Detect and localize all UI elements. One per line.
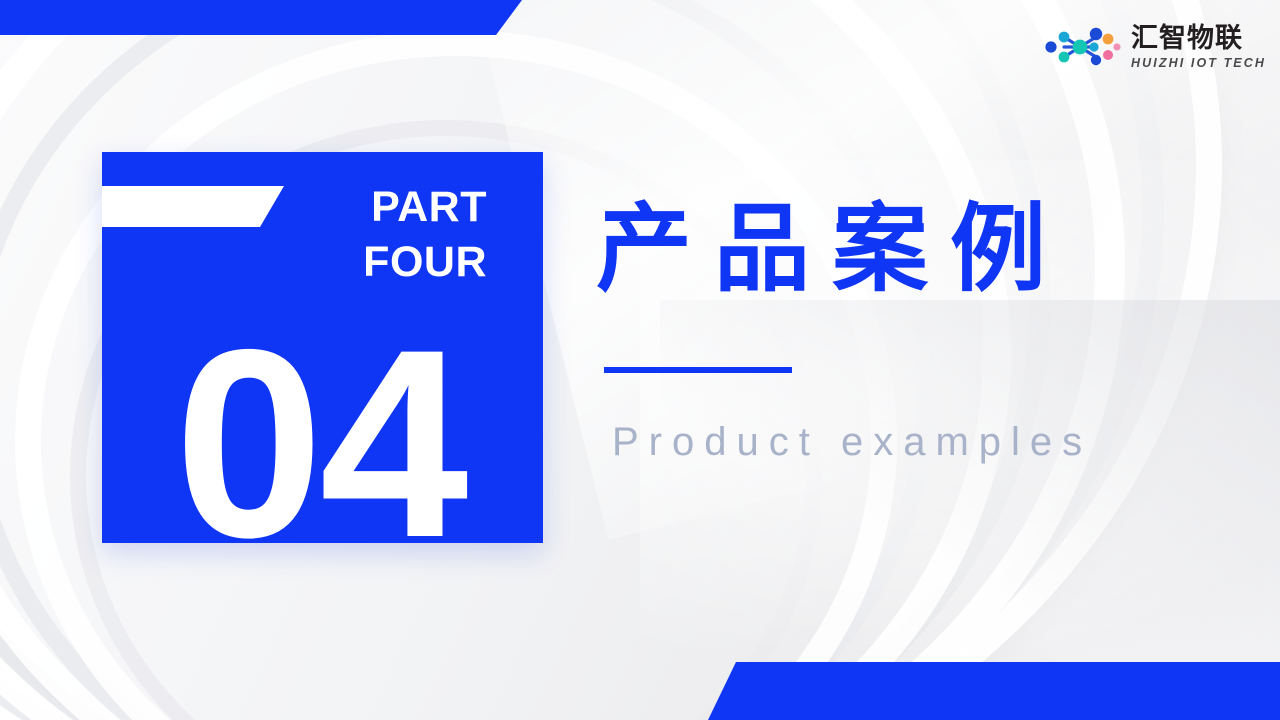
part-label-line-1: PART	[267, 180, 487, 235]
top-left-accent-bar	[0, 0, 522, 35]
title-underline-rule	[604, 367, 792, 373]
huizhi-molecule-logo-icon	[1038, 24, 1122, 70]
part-label-line-2: FOUR	[267, 235, 487, 290]
brand-logo-text: 汇智物联 HUIZHI IOT TECH	[1131, 25, 1266, 70]
page-subtitle: Product examples	[612, 420, 1092, 465]
panel-accent-slash	[102, 186, 284, 227]
brand-name-en: HUIZHI IOT TECH	[1131, 57, 1266, 70]
brand-logo: 汇智物联 HUIZHI IOT TECH	[1038, 24, 1266, 70]
bottom-right-accent-bar	[708, 662, 1280, 720]
section-number: 04	[102, 309, 543, 577]
section-number-panel: PART FOUR 04	[102, 152, 543, 543]
part-label: PART FOUR	[267, 180, 487, 290]
brand-name-cn: 汇智物联	[1131, 25, 1266, 52]
slide-canvas: PART FOUR 04 产品案例 Product examples	[0, 0, 1280, 720]
page-title: 产品案例	[596, 196, 1068, 304]
